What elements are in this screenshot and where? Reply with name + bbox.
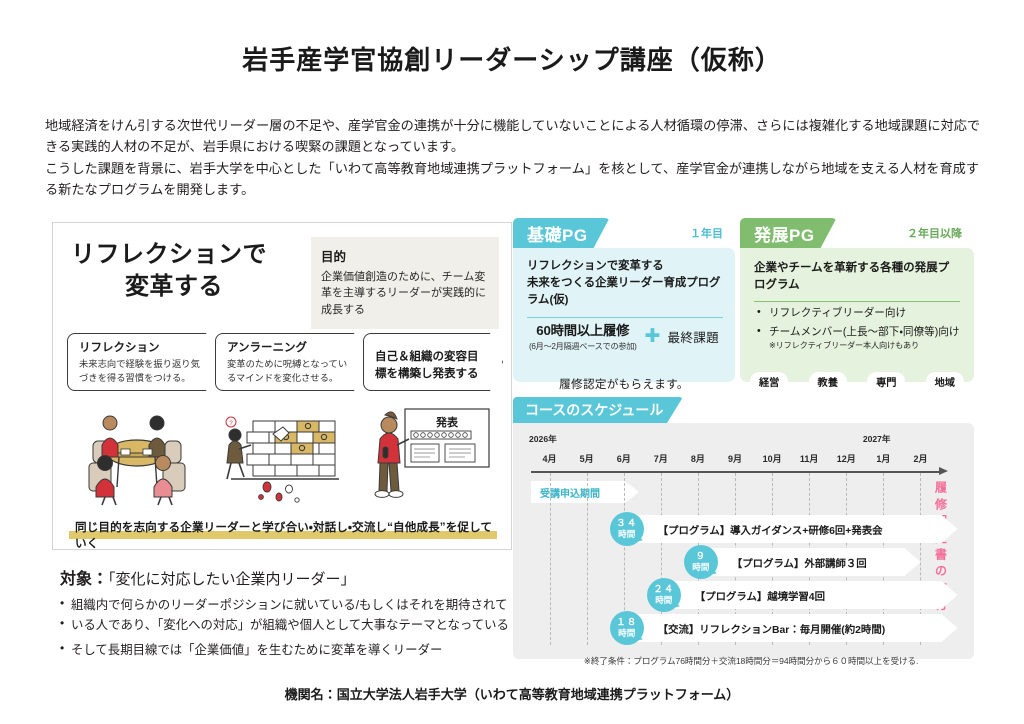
schedule-footnote: ※終了条件：プログラム76時間分＋交流18時間分＝94時間分から６０時間以上を受… [531,655,971,667]
basic-pg-program-line-1: リフレクションで変革する [527,258,723,275]
schedule-section: コースのスケジュール 受講申込期間 履修認定書の交付 ※終了条件：プログラム76… [513,397,974,659]
timeline-month-label: 8月 [688,452,708,465]
timeline-gridline [587,473,588,645]
timeline-gridline [550,473,551,645]
schedule-bar: 【プログラム】越境学習4回 [661,581,958,609]
list-item: そして長期目線では「企業価値」を生むために変革を導くリーダー [60,640,530,660]
timeline-year-label: 2027年 [863,433,891,445]
reflection-headline: リフレクションで 変革する [71,239,271,304]
schedule-hours-badge: ３４時間 [610,512,644,546]
schedule-timeline: 受講申込期間 履修認定書の交付 ※終了条件：プログラム76時間分＋交流18時間分… [531,433,951,643]
schedule-body: 受講申込期間 履修認定書の交付 ※終了条件：プログラム76時間分＋交流18時間分… [513,423,974,659]
advanced-pg-bullets: リフレクティブリーダー向け チームメンバー(上長〜部下・同僚等)向け ※リフレク… [756,306,964,356]
schedule-hours-unit: 時間 [618,629,635,638]
advanced-pg-card: 発展PG ２年目以降 企業やチームを革新する各種の発展プログラム リフレクティブ… [740,218,974,382]
schedule-bar: 【プログラム】導入ガイダンス+研修6回+発表会 [624,515,958,543]
advanced-pg-tab: 発展PG [740,218,837,248]
target-heading-value: 「変化に対応したい企業内リーダー」 [108,571,356,588]
page-title: 岩手産学官協創リーダーシップ講座（仮称） [0,40,1024,77]
step-title: アンラーニング [227,341,350,355]
slogan-block: 同じ目的を志向する企業リーダーと学び合い・対話し・交流し“自他成長”を促していく [69,519,497,551]
schedule-bar-label: 【プログラム】越境学習4回 [695,581,825,609]
schedule-hours-unit: 時間 [618,530,635,539]
schedule-row: 【プログラム】導入ガイダンス+研修6回+発表会３４時間 [624,515,958,543]
step-title: リフレクション [79,341,202,355]
footer-value: 国立大学法人岩手大学（いわて高等教育地域連携プラットフォーム） [337,687,740,702]
timeline-month-label: 1月 [873,452,893,465]
basic-pg-tab: 基礎PG [513,218,610,248]
list-item-text: チームメンバー(上長〜部下・同僚等)向け [769,326,959,338]
timeline-month-label: 9月 [725,452,745,465]
advanced-pg-tags: 経営 教養 専門 地域 [750,372,964,391]
schedule-hours-number: ３４ [616,519,637,529]
step-chevrons: リフレクション 未来志向で経験を振り返り気づきを得る習慣をつける。 アンラーニン… [67,333,503,395]
reflection-panel: リフレクションで 変革する 目的 企業価値創造のために、チーム変革を主導するリー… [52,222,512,550]
step-chevron-reflection: リフレクション 未来志向で経験を振り返り気づきを得る習慣をつける。 [67,333,219,391]
illustration-row: ? [67,401,503,507]
basic-pg-final-task: 最終課題 [667,327,719,346]
schedule-bar: 【交流】リフレクションBar：毎月開催(約2時間) [624,614,958,642]
timeline-month-label: 7月 [651,452,671,465]
advanced-pg-year-label: ２年目以降 [907,225,962,241]
schedule-row: 【交流】リフレクションBar：毎月開催(約2時間)１８時間 [624,614,958,642]
schedule-row: 【プログラム】外部講師３回９時間 [698,548,921,576]
step-body: 未来志向で経験を振り返り気づきを得る習慣をつける。 [79,358,202,384]
schedule-hours-badge: ９時間 [684,545,718,579]
basic-pg-hours: 60時間以上履修 (6月〜2月隔週ベースでの参加) [529,320,637,352]
footer-institution: 機関名：国立大学法人岩手大学（いわて高等教育地域連携プラットフォーム） [0,684,1024,703]
timeline-month-label: 10月 [762,452,782,465]
schedule-hours-badge: １８時間 [610,611,644,645]
purpose-box: 目的 企業価値創造のために、チーム変革を主導するリーダーが実践的に成長する [311,237,499,329]
basic-pg-requirements: 60時間以上履修 (6月〜2月隔週ベースでの参加) ✚ 最終課題 [521,320,727,352]
target-bullet-list: 組織内で何らかのリーダーポジションに就いている/もしくはそれを期待されて いる人… [60,595,530,660]
list-item: チームメンバー(上長〜部下・同僚等)向け ※リフレクティブリーダー本人向けもあり [756,325,964,351]
basic-pg-result: 履修認定がもらえます。 [513,376,735,392]
plus-icon: ✚ [645,327,661,346]
list-item: いる人であり、「変化への対応」が組織や個人として大事なテーマとなっている [60,615,530,635]
timeline-month-label: 2月 [910,452,930,465]
schedule-bar-label: 【プログラム】外部講師３回 [732,548,867,576]
target-heading-label: 対象： [60,571,108,588]
schedule-tab: コースのスケジュール [513,397,683,423]
schedule-row: 【プログラム】越境学習4回２４時間 [661,581,958,609]
basic-pg-body: リフレクションで変革する 未来をつくる企業リーダー育成プログラム(仮) 60時間… [513,248,735,382]
schedule-hours-unit: 時間 [655,596,672,605]
schedule-bar: 【プログラム】外部講師３回 [698,548,921,576]
timeline-month-label: 4月 [540,452,560,465]
timeline-month-label: 5月 [577,452,597,465]
presentation-illustration: 発表 [367,401,497,507]
advanced-pg-note: ※リフレクティブリーダー本人向けもあり [769,340,964,352]
tag-liberal-arts: 教養 [809,372,847,391]
list-item: リフレクティブリーダー向け [756,306,964,321]
tag-specialty: 専門 [867,372,905,391]
schedule-hours-number: ２４ [653,585,674,595]
intro-line-1: 地域経済をけん引する次世代リーダー層の不足や、産学官金の連携が十分に機能していな… [45,115,990,158]
step-title: 自己＆組織の変容目標を構築し発表する [375,341,486,384]
timeline-month-label: 11月 [799,452,819,465]
tag-region: 地域 [926,372,964,391]
list-item: 組織内で何らかのリーダーポジションに就いている/もしくはそれを期待されて [60,595,530,615]
schedule-bar-label: 【プログラム】導入ガイダンス+研修6回+発表会 [658,515,883,543]
step-chevron-unlearning: アンラーニング 変革のために呪縛となっているマインドを変化させる。 [215,333,367,391]
basic-pg-hours-main: 60時間以上履修 [529,320,637,339]
wall-breaking-illustration: ? [217,401,347,507]
purpose-heading: 目的 [321,246,489,265]
target-audience-block: 対象：「変化に対応したい企業内リーダー」 組織内で何らかのリーダーポジションに就… [60,565,530,660]
footer-label: 機関名： [285,687,337,702]
step-body: 変革のために呪縛となっているマインドを変化させる。 [227,358,350,384]
tag-management: 経営 [750,372,788,391]
basic-pg-card: 基礎PG １年目 リフレクションで変革する 未来をつくる企業リーダー育成プログラ… [513,218,735,382]
poster-page: 岩手産学官協創リーダーシップ講座（仮称） 地域経済をけん引する次世代リーダー層の… [0,0,1024,724]
schedule-hours-badge: ２４時間 [647,578,681,612]
basic-pg-program-line-2: 未来をつくる企業リーダー育成プログラム(仮) [527,275,723,309]
group-discussion-illustration [77,401,197,507]
advanced-pg-headline: 企業やチームを革新する各種の発展プログラム [754,260,960,302]
schedule-bar-label: 【交流】リフレクションBar：毎月開催(約2時間) [658,614,885,642]
timeline-month-label: 6月 [614,452,634,465]
advanced-pg-body: 企業やチームを革新する各種の発展プログラム リフレクティブリーダー向け チームメ… [740,248,974,382]
schedule-hours-unit: 時間 [692,563,709,572]
headline-line-1: リフレクションで [71,239,271,271]
headline-line-2: 変革する [71,271,271,303]
intro-paragraph: 地域経済をけん引する次世代リーダー層の不足や、産学官金の連携が十分に機能していな… [45,115,990,201]
basic-pg-year-label: １年目 [690,225,723,241]
intro-line-2: こうした課題を背景に、岩手大学を中心とした「いわて高等教育地域連携プラットフォー… [45,158,990,201]
basic-pg-program-name: リフレクションで変革する 未来をつくる企業リーダー育成プログラム(仮) [527,258,723,318]
timeline-year-label: 2026年 [529,433,557,445]
basic-pg-hours-note: (6月〜2月隔週ベースでの参加) [529,340,637,352]
purpose-body: 企業価値創造のために、チーム変革を主導するリーダーが実践的に成長する [321,269,489,318]
target-heading: 対象：「変化に対応したい企業内リーダー」 [60,565,530,589]
slogan-text: 同じ目的を志向する企業リーダーと学び合い・対話し・交流し“自他成長”を促していく [69,519,497,551]
presentation-board-label: 発表 [435,415,459,429]
timeline-month-label: 12月 [836,452,856,465]
schedule-hours-number: ９ [696,552,707,562]
schedule-hours-number: １８ [616,618,637,628]
step-chevron-transformation-goal: 自己＆組織の変容目標を構築し発表する [363,333,503,391]
